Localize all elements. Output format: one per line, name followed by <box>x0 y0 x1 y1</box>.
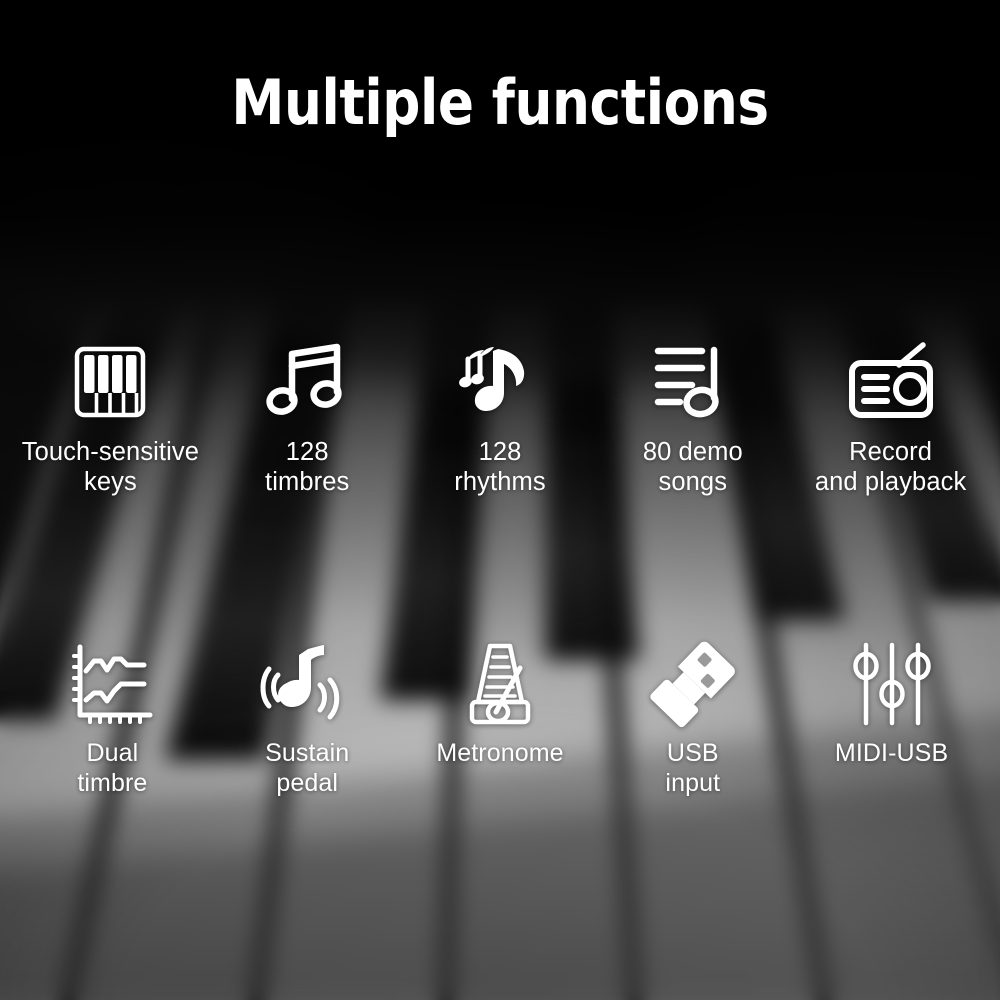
feature-label: Metronome <box>436 739 563 769</box>
feature-row-1: Touch-sensitive keys 128 timbres <box>0 336 1000 497</box>
vibrating-note-icon <box>264 638 350 730</box>
feature-label: Dual timbre <box>77 739 147 798</box>
feature-record-and-playback[interactable]: Record and playback <box>794 336 987 497</box>
feature-midi-usb[interactable]: MIDI-USB <box>795 638 988 769</box>
feature-dual-timbre[interactable]: Dual timbre <box>16 638 209 798</box>
piano-keyboard-background <box>0 0 1000 1000</box>
feature-128-timbres[interactable]: 128 timbres <box>211 336 404 497</box>
waveform-chart-icon <box>70 638 154 730</box>
feature-label: Sustain pedal <box>265 739 349 798</box>
playlist-note-icon <box>652 336 734 428</box>
promo-banner: Multiple functions <box>0 0 1000 1000</box>
feature-touch-sensitive-keys[interactable]: Touch-sensitive keys <box>14 336 207 497</box>
feature-128-rhythms[interactable]: 128 rhythms <box>404 336 597 497</box>
metronome-icon <box>462 638 538 730</box>
feature-label: 128 timbres <box>265 437 349 497</box>
piano-keys-icon <box>72 336 148 428</box>
feature-sustain-pedal[interactable]: Sustain pedal <box>211 638 404 798</box>
feature-label: 128 rhythms <box>454 437 545 497</box>
feature-usb-input[interactable]: USB input <box>596 638 789 798</box>
feature-label: 80 demo songs <box>643 437 743 497</box>
radio-icon <box>847 336 935 428</box>
feature-row-2: Dual timbre Sustain pedal <box>0 638 1000 798</box>
feature-label: MIDI-USB <box>835 739 948 769</box>
page-title: Multiple functions <box>70 72 930 134</box>
feature-label: USB input <box>665 739 720 798</box>
feature-label: Touch-sensitive keys <box>22 437 199 497</box>
usb-plug-icon <box>652 638 734 730</box>
music-notes-filled-icon <box>460 336 540 428</box>
music-notes-icon <box>268 336 346 428</box>
feature-label: Record and playback <box>815 437 966 497</box>
feature-80-demo-songs[interactable]: 80 demo songs <box>596 336 789 497</box>
sliders-icon <box>852 638 932 730</box>
feature-metronome[interactable]: Metronome <box>404 638 597 769</box>
